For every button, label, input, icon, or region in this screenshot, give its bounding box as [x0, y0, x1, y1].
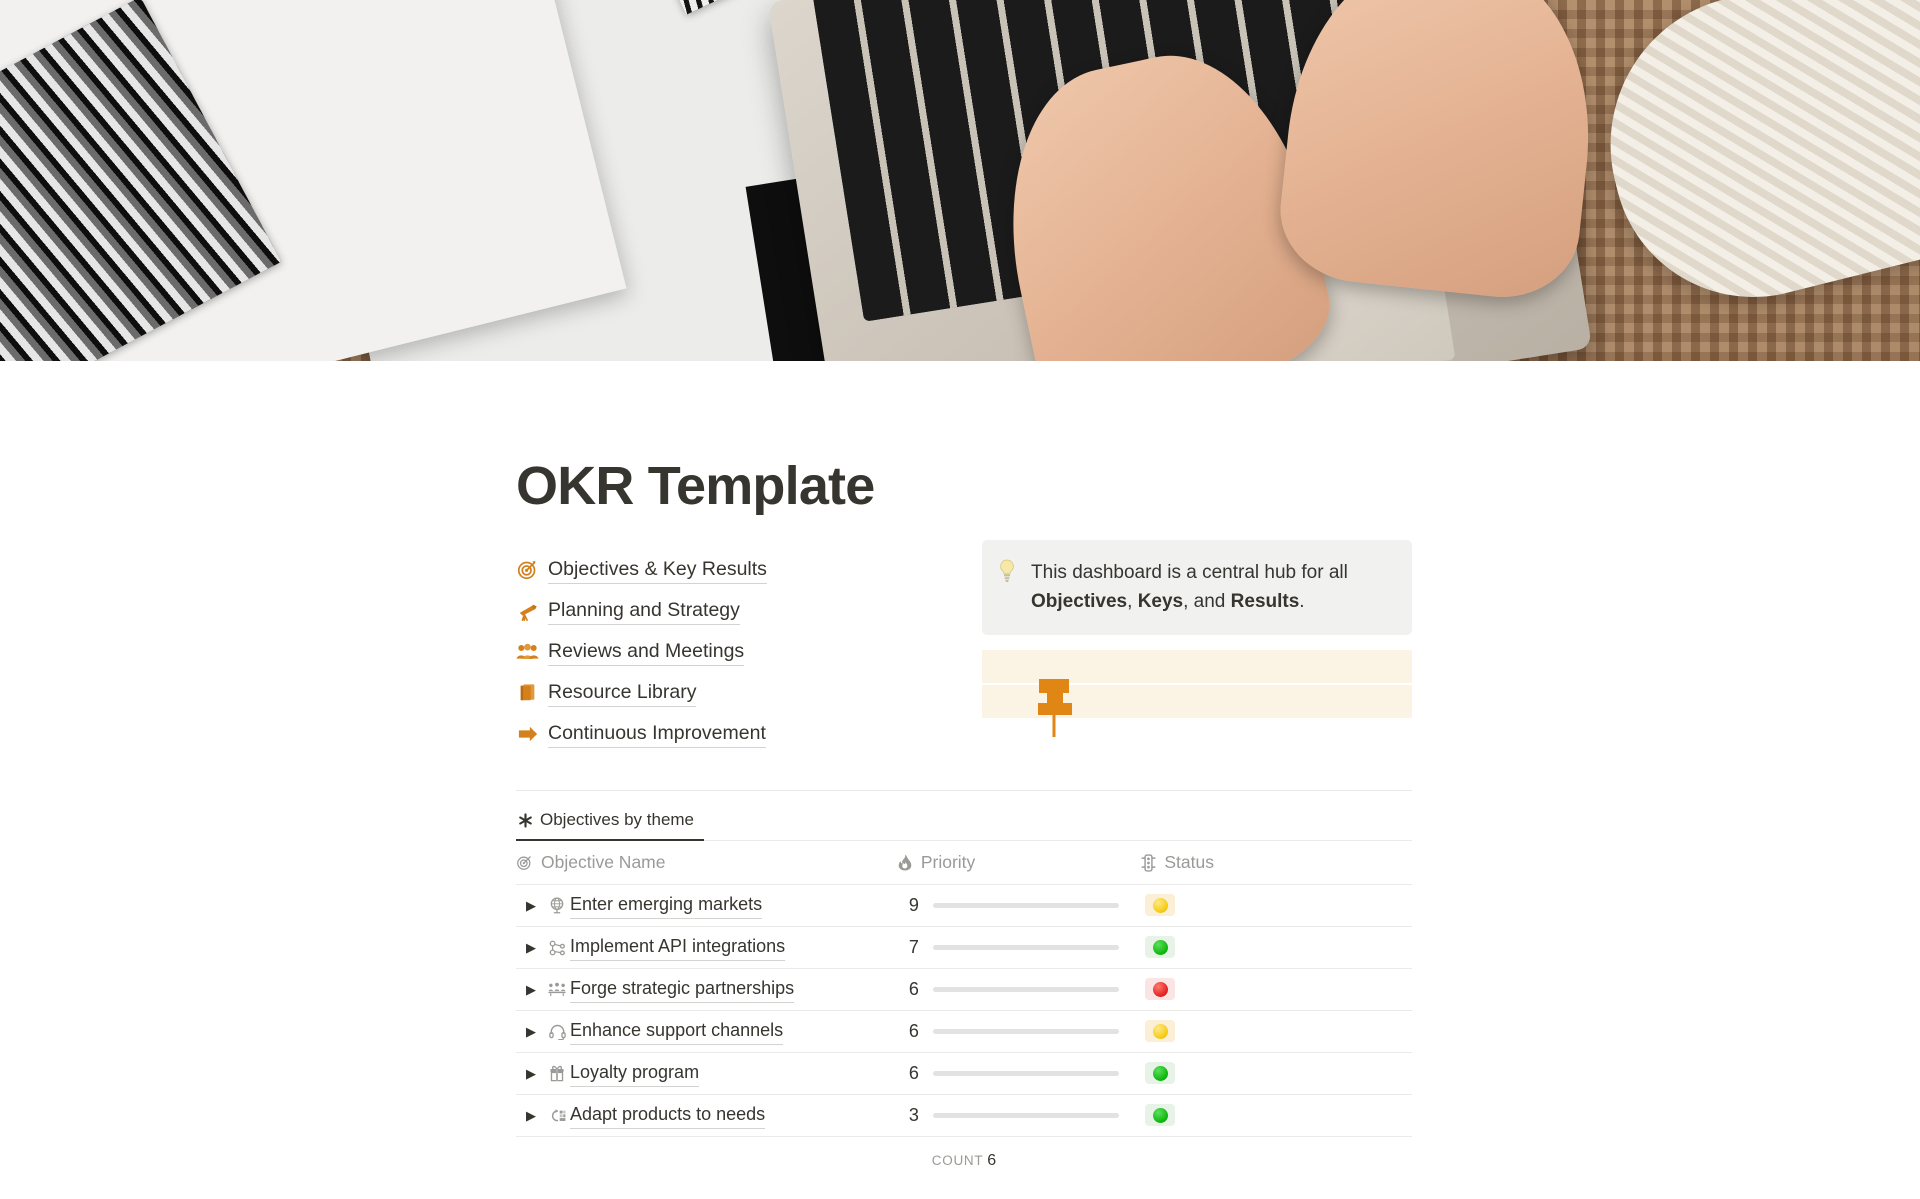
status-badge — [1145, 1020, 1175, 1042]
two-column-section: Objectives & Key Results Planning and St… — [516, 540, 1412, 754]
cell-objective-name: ▶ Enter emerging markets — [516, 885, 897, 927]
people-icon — [516, 640, 539, 663]
collapsed-triangle-icon[interactable]: ▶ — [518, 1025, 544, 1038]
table-row[interactable]: ▶ Implement API integration — [516, 927, 1412, 969]
objective-name-link[interactable]: Forge strategic partnerships — [570, 977, 794, 1002]
sidebar-item-label: Continuous Improvement — [548, 720, 766, 748]
count-value: 6 — [987, 1152, 996, 1169]
asterisk-icon — [518, 813, 533, 828]
collapsed-triangle-icon[interactable]: ▶ — [518, 1067, 544, 1080]
objective-name-link[interactable]: Loyalty program — [570, 1061, 699, 1086]
knit-sleeve — [1579, 0, 1920, 327]
books-icon — [516, 681, 539, 704]
priority-bar — [933, 1071, 1120, 1076]
cell-status — [1141, 885, 1412, 927]
lightbulb-icon — [998, 559, 1020, 583]
priority-value: 6 — [897, 979, 919, 1000]
column-header-label: Objective Name — [541, 852, 666, 873]
target-icon — [516, 558, 539, 581]
column-header-status[interactable]: Status — [1141, 841, 1412, 885]
sidebar-item-resource-library[interactable]: Resource Library — [516, 672, 942, 713]
green-circle-icon — [1153, 1108, 1168, 1123]
headset-icon — [544, 1024, 570, 1040]
sidebar-item-label: Objectives & Key Results — [548, 556, 767, 584]
status-badge — [1145, 978, 1175, 1000]
cell-objective-name: ▶ Implement API integration — [516, 927, 897, 969]
page-content: OKR Template — [508, 361, 1412, 1170]
info-callout: This dashboard is a central hub for all … — [982, 540, 1412, 634]
cell-priority: 6 — [897, 969, 1142, 1011]
priority-bar — [933, 1029, 1120, 1034]
count-label: Count — [932, 1153, 984, 1168]
priority-value: 9 — [897, 895, 919, 916]
target-icon — [516, 854, 533, 871]
callout-text-part1: This dashboard is a central hub for all — [1031, 562, 1348, 583]
cell-priority: 6 — [897, 1053, 1142, 1095]
pushpin-icon — [1025, 677, 1085, 739]
collapsed-triangle-icon[interactable]: ▶ — [518, 941, 544, 954]
meeting-icon — [544, 982, 570, 997]
table-row[interactable]: ▶ Enter emerging markets — [516, 885, 1412, 927]
table-row[interactable]: ▶ — [516, 1095, 1412, 1137]
priority-bar — [933, 1113, 1120, 1118]
column-header-label: Status — [1164, 852, 1214, 873]
priority-value: 7 — [897, 937, 919, 958]
status-badge — [1145, 1062, 1175, 1084]
yellow-circle-icon — [1153, 1024, 1168, 1039]
cell-objective-name: ▶ Loyalty program — [516, 1053, 897, 1095]
cell-objective-name: ▶ Enhance support channels — [516, 1011, 897, 1053]
magazine-page-left — [0, 0, 626, 361]
cell-objective-name: ▶ — [516, 1095, 897, 1137]
table-body: ▶ Enter emerging markets — [516, 885, 1412, 1137]
column-header-priority[interactable]: Priority — [897, 841, 1142, 885]
globe-icon — [544, 897, 570, 914]
table-row[interactable]: ▶ Forge — [516, 969, 1412, 1011]
arrow-right-icon — [516, 722, 539, 745]
nav-column: Objectives & Key Results Planning and St… — [516, 540, 942, 754]
page-icon[interactable] — [1025, 677, 1085, 747]
cell-priority: 9 — [897, 885, 1142, 927]
priority-bar — [933, 903, 1120, 908]
status-badge — [1145, 1104, 1175, 1126]
priority-value: 6 — [897, 1063, 919, 1084]
callout-sep2: , and — [1183, 591, 1231, 612]
cell-status — [1141, 1095, 1412, 1137]
page-title: OKR Template — [516, 361, 1412, 540]
red-circle-icon — [1153, 982, 1168, 997]
callout-text: This dashboard is a central hub for all … — [1031, 559, 1393, 615]
status-badge — [1145, 936, 1175, 958]
green-circle-icon — [1153, 1066, 1168, 1081]
collapsed-triangle-icon[interactable]: ▶ — [518, 899, 544, 912]
objectives-table: Objective Name Priority — [516, 841, 1412, 1137]
sidebar-item-reviews-meetings[interactable]: Reviews and Meetings — [516, 631, 942, 672]
cell-priority: 7 — [897, 927, 1142, 969]
cell-objective-name: ▶ Forge — [516, 969, 897, 1011]
priority-value: 3 — [897, 1105, 919, 1126]
objective-name-link[interactable]: Implement API integrations — [570, 935, 785, 960]
column-header-label: Priority — [921, 852, 975, 873]
objective-name-link[interactable]: Enhance support channels — [570, 1019, 783, 1044]
priority-bar — [933, 945, 1120, 950]
page-body: OKR Template — [0, 361, 1920, 1170]
table-footer-count: Count6 — [516, 1137, 1412, 1170]
sidebar-item-objectives-key-results[interactable]: Objectives & Key Results — [516, 549, 942, 590]
collapsed-triangle-icon[interactable]: ▶ — [518, 1109, 544, 1122]
cell-status — [1141, 969, 1412, 1011]
table-header: Objective Name Priority — [516, 841, 1412, 885]
priority-value: 6 — [897, 1021, 919, 1042]
table-row[interactable]: ▶ Enhance support channels — [516, 1011, 1412, 1053]
recycle-icon — [544, 1108, 570, 1124]
cover-photo-background — [0, 0, 1920, 361]
sidebar-item-planning-strategy[interactable]: Planning and Strategy — [516, 590, 942, 631]
cell-priority: 3 — [897, 1095, 1142, 1137]
callout-bold-results: Results — [1231, 591, 1300, 612]
network-icon — [544, 940, 570, 956]
green-circle-icon — [1153, 940, 1168, 955]
cell-status — [1141, 1053, 1412, 1095]
column-header-objective-name[interactable]: Objective Name — [516, 841, 897, 885]
cover-image — [0, 0, 1920, 361]
sidebar-item-continuous-improvement[interactable]: Continuous Improvement — [516, 713, 942, 754]
yellow-circle-icon — [1153, 898, 1168, 913]
bw-photo-1 — [0, 0, 281, 361]
cell-priority: 6 — [897, 1011, 1142, 1053]
page-links-list: Objectives & Key Results Planning and St… — [516, 549, 942, 754]
database-tabs: Objectives by theme — [516, 810, 1412, 841]
objective-name-link[interactable]: Adapt products to needs — [570, 1103, 765, 1128]
callout-sep1: , — [1127, 591, 1138, 612]
callout-bold-keys: Keys — [1138, 591, 1183, 612]
telescope-icon — [516, 599, 539, 622]
gift-icon — [544, 1065, 570, 1082]
callout-column: This dashboard is a central hub for all … — [942, 540, 1412, 717]
sidebar-item-label: Reviews and Meetings — [548, 638, 744, 666]
callout-end: . — [1299, 591, 1304, 612]
cell-status — [1141, 1011, 1412, 1053]
fire-icon — [897, 854, 913, 871]
sidebar-item-label: Planning and Strategy — [548, 597, 740, 625]
tab-objectives-by-theme[interactable]: Objectives by theme — [516, 810, 704, 841]
table-row[interactable]: ▶ Loyalty program — [516, 1053, 1412, 1095]
cell-status — [1141, 927, 1412, 969]
status-badge — [1145, 894, 1175, 916]
callout-bold-objectives: Objectives — [1031, 591, 1127, 612]
collapsed-triangle-icon[interactable]: ▶ — [518, 983, 544, 996]
objective-name-link[interactable]: Enter emerging markets — [570, 893, 762, 918]
section-divider — [516, 790, 1412, 791]
priority-bar — [933, 987, 1120, 992]
tab-label: Objectives by theme — [540, 810, 694, 830]
sidebar-item-label: Resource Library — [548, 679, 696, 707]
right-hand — [1274, 0, 1607, 305]
traffic-light-icon — [1141, 854, 1156, 872]
